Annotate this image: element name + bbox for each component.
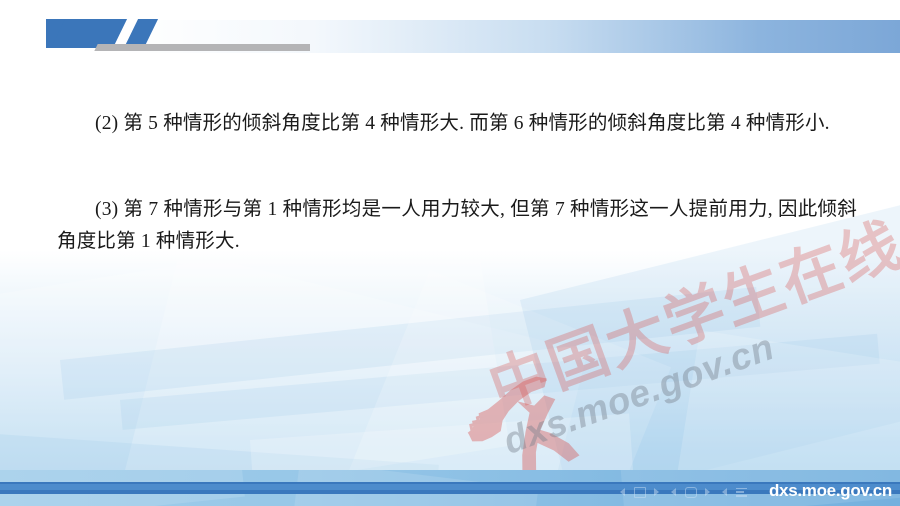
background-facet (60, 287, 760, 400)
footer-accent-stripe-highlight (0, 484, 900, 490)
menu-button-icon[interactable] (735, 486, 748, 498)
paragraph-text: (3) 第 7 种情形与第 1 种情形均是一人用力较大, 但第 7 种情形这一人… (57, 199, 857, 252)
background-facet (107, 250, 587, 506)
circle-button-1-icon[interactable] (684, 486, 697, 498)
prev-arrow-3-icon[interactable] (718, 486, 731, 498)
prev-arrow-2-icon[interactable] (667, 486, 680, 498)
footer-url-text: dxs.moe.gov.cn (769, 481, 892, 501)
slide-navigation-controls[interactable] (616, 484, 748, 500)
header-gray-bar (103, 44, 310, 51)
background-facet (120, 334, 880, 430)
body-paragraph-2: (2) 第 5 种情形的倾斜角度比第 4 种情形大. 而第 6 种情形的倾斜角度… (57, 108, 857, 140)
paragraph-text: (2) 第 5 种情形的倾斜角度比第 4 种情形大. 而第 6 种情形的倾斜角度… (95, 113, 830, 134)
watermark-url-text: dxs.moe.gov.cn (498, 326, 780, 463)
background-facet (0, 219, 510, 506)
next-arrow-1-icon[interactable] (650, 486, 663, 498)
next-arrow-2-icon[interactable] (701, 486, 714, 498)
watermark: 中国大学生在线 dxs.moe.gov.cn (430, 300, 900, 480)
presentation-slide: (2) 第 5 种情形的倾斜角度比第 4 种情形大. 而第 6 种情形的倾斜角度… (0, 0, 900, 506)
prev-arrow-1-icon[interactable] (616, 486, 629, 498)
body-paragraph-3: (3) 第 7 种情形与第 1 种情形均是一人用力较大, 但第 7 种情形这一人… (57, 194, 857, 258)
background-gradient (0, 250, 900, 506)
square-button-1-icon[interactable] (633, 486, 646, 498)
